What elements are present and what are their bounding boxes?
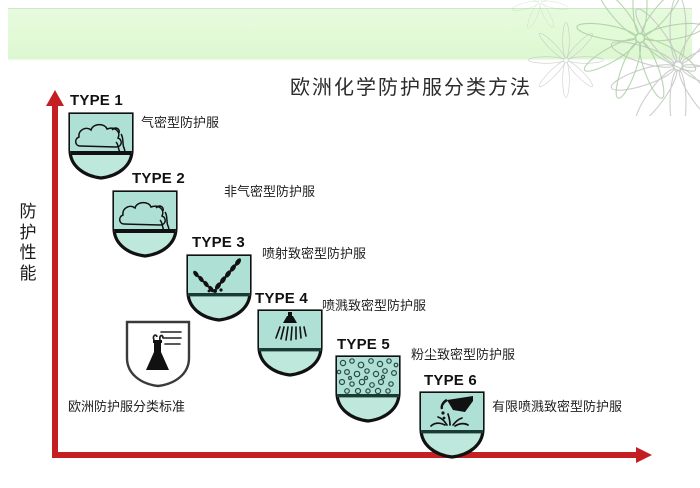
y-axis-label-char-2: 性 bbox=[16, 243, 40, 264]
dust-particles-icon bbox=[333, 353, 403, 425]
shield-type-4 bbox=[255, 307, 325, 379]
gas-cloud-icon bbox=[110, 188, 180, 260]
shield-standard bbox=[123, 318, 193, 390]
shield-type-2 bbox=[110, 188, 180, 260]
y-axis-label-char-0: 防 bbox=[16, 202, 40, 223]
type-4-label: TYPE 4 bbox=[255, 290, 308, 307]
slide-canvas: 欧洲化学防护服分类方法 防 护 性 能 TYPE 1 bbox=[0, 0, 700, 488]
shield-type-3 bbox=[184, 252, 254, 324]
x-axis-line bbox=[52, 452, 640, 458]
spray-shower-icon bbox=[255, 307, 325, 379]
x-axis-arrow-head bbox=[636, 447, 652, 463]
shield-type-5 bbox=[333, 353, 403, 425]
type-6-description: 有限喷溅致密型防护服 bbox=[492, 396, 622, 415]
shield-type-6 bbox=[417, 389, 487, 461]
type-6-label: TYPE 6 bbox=[424, 372, 477, 389]
page-title: 欧洲化学防护服分类方法 bbox=[290, 71, 532, 100]
standard-caption: 欧洲防护服分类标准 bbox=[68, 396, 185, 415]
type-2-label: TYPE 2 bbox=[132, 170, 185, 187]
y-axis-label-char-1: 护 bbox=[16, 223, 40, 244]
type-4-description: 喷溅致密型防护服 bbox=[322, 295, 426, 314]
type-1-label: TYPE 1 bbox=[70, 92, 123, 109]
type-1-description: 气密型防护服 bbox=[141, 112, 219, 131]
type-3-label: TYPE 3 bbox=[192, 234, 245, 251]
gas-cloud-icon bbox=[66, 110, 136, 182]
y-axis-line bbox=[52, 104, 58, 458]
header-band bbox=[8, 8, 692, 59]
y-axis-label-char-3: 能 bbox=[16, 264, 40, 285]
type-3-description: 喷射致密型防护服 bbox=[262, 243, 366, 262]
type-5-label: TYPE 5 bbox=[337, 336, 390, 353]
type-2-description: 非气密型防护服 bbox=[224, 181, 315, 200]
liquid-jet-icon bbox=[184, 252, 254, 324]
pouring-flask-icon bbox=[417, 389, 487, 461]
y-axis-label: 防 护 性 能 bbox=[16, 202, 40, 285]
flask-fumes-icon bbox=[123, 318, 193, 390]
type-5-description: 粉尘致密型防护服 bbox=[411, 344, 515, 363]
shield-type-1 bbox=[66, 110, 136, 182]
